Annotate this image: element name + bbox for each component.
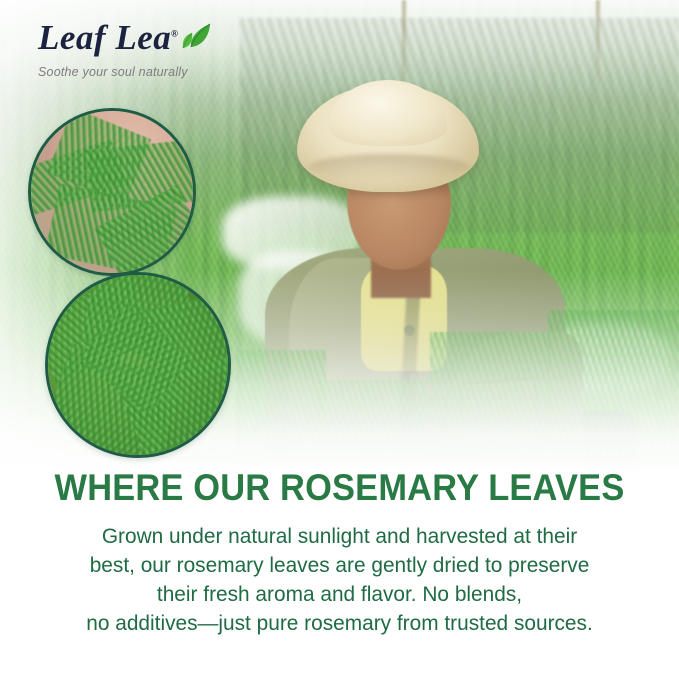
inset-circle-rosemary-top <box>28 108 196 276</box>
body-line: Grown under natural sunlight and harvest… <box>37 522 641 551</box>
brand-logo[interactable]: Leaf Lea® Soothe your soul naturally <box>38 20 213 79</box>
body-line: no additives—just pure rosemary from tru… <box>37 609 641 638</box>
logo-tagline: Soothe your soul naturally <box>38 65 213 79</box>
page-title: WHERE OUR ROSEMARY LEAVES <box>24 468 655 508</box>
farmer-hat-crown <box>329 80 447 146</box>
body-paragraph: Grown under natural sunlight and harvest… <box>10 522 669 638</box>
farmer-hat-shadow <box>309 154 469 180</box>
logo-name-text: Leaf Lea <box>38 18 171 57</box>
logo-row: Leaf Lea® <box>38 20 213 60</box>
body-line: their fresh aroma and flavor. No blends, <box>37 580 641 609</box>
product-brand-banner: Leaf Lea® Soothe your soul naturally <box>0 0 679 679</box>
greenhouse-post <box>596 0 600 96</box>
inset-circle-rosemary-bottom <box>45 272 231 458</box>
trademark-symbol: ® <box>171 28 178 38</box>
shirt-button <box>405 326 414 335</box>
copy-block: WHERE OUR ROSEMARY LEAVES Grown under na… <box>0 468 679 638</box>
logo-wordmark: Leaf Lea® <box>38 20 178 55</box>
body-line: best, our rosemary leaves are gently dri… <box>37 551 641 580</box>
leaf-icon <box>179 21 213 60</box>
